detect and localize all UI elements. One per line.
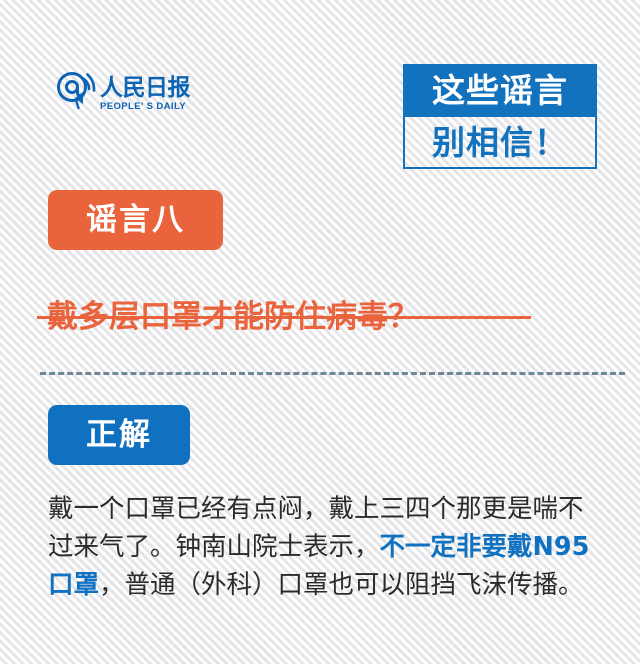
banner-line-1: 这些谣言 [403, 64, 597, 117]
at-sign-megaphone-icon [56, 70, 96, 112]
answer-body-text: 戴一个口罩已经有点闷，戴上三四个那更是喘不过来气了。钟南山院士表示，不一定非要戴… [48, 490, 608, 604]
poster-header: 人民日报 PEOPLE' S DAILY 这些谣言 别相信！ [0, 0, 640, 180]
logo-wordmark: 人民日报 PEOPLE' S DAILY [100, 77, 190, 113]
answer-body-run: ，普通（外科）口罩也可以阻挡飞沫传播。 [99, 570, 584, 600]
banner-line-2: 别相信！ [403, 117, 597, 169]
logo-english-name: PEOPLE' S DAILY [100, 102, 186, 112]
rumor-strikethrough-line [37, 316, 531, 319]
logo-chinese-name: 人民日报 [100, 77, 190, 100]
correct-answer-tag-label: 正解 [86, 420, 152, 451]
poster-canvas: 人民日报 PEOPLE' S DAILY 这些谣言 别相信！ 谣言八 戴多层口罩… [0, 0, 640, 664]
section-divider [40, 372, 625, 375]
banner-line-2-text: 别相信！ [432, 126, 568, 159]
rumor-number-tag: 谣言八 [48, 190, 223, 250]
rumor-number-tag-label: 谣言八 [86, 205, 185, 236]
headline-banner: 这些谣言 别相信！ [403, 64, 597, 169]
banner-line-1-text: 这些谣言 [432, 74, 568, 107]
correct-answer-tag: 正解 [48, 405, 190, 465]
peoples-daily-logo: 人民日报 PEOPLE' S DAILY [56, 70, 190, 112]
